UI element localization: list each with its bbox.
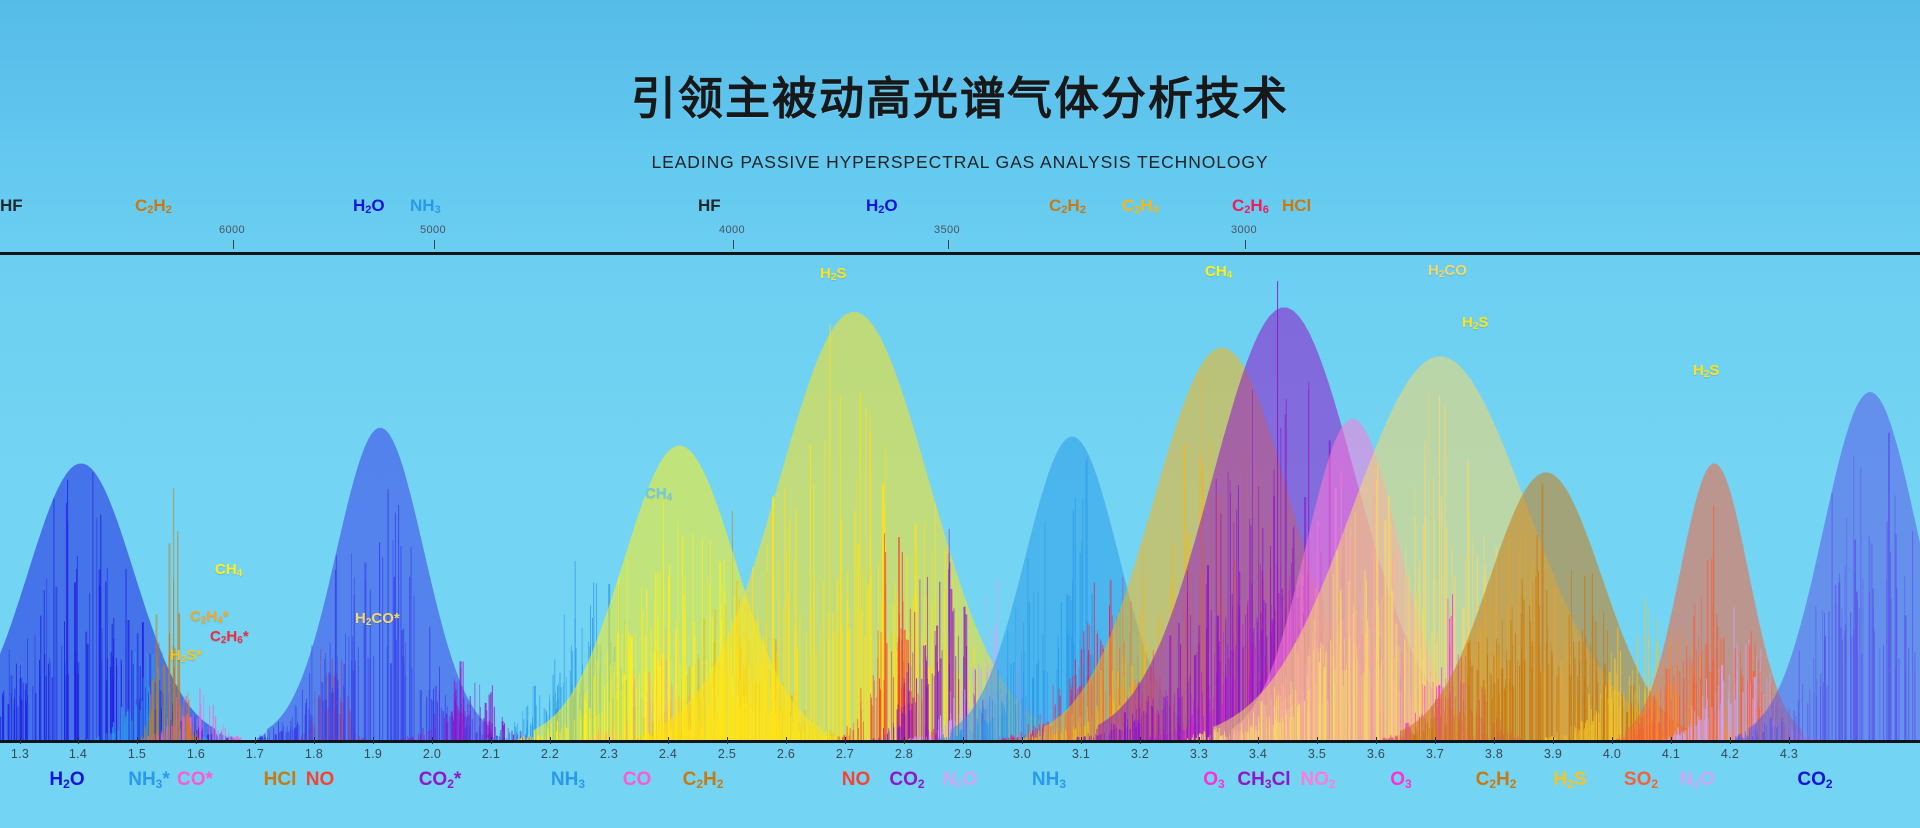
bottom-axis-tick-mark [255,737,256,744]
bottom-axis: 1.31.41.51.61.71.81.92.02.12.22.32.42.52… [0,743,1920,828]
top-species-label: NH3 [410,196,441,216]
top-axis-tick-mark [948,240,949,249]
bottom-species-label: CO2 [1797,769,1832,791]
inplot-species-label: H2S [820,265,846,283]
bottom-species-label: O3 [1390,769,1411,791]
inplot-species-label: H2CO [1428,262,1467,280]
bottom-species-label: H2S [1553,769,1586,791]
inplot-species-label: H2CO* [355,610,400,628]
top-species-label: H2O [866,196,898,216]
bottom-axis-tick-mark [1081,737,1082,744]
bottom-species-label: NH3 [1032,769,1066,791]
inplot-species-label: CH4 [1205,263,1232,281]
spectra-svg [0,255,1920,740]
bottom-axis-tick-mark [78,737,79,744]
bottom-axis-tick-label: 2.3 [600,747,618,761]
bottom-axis-tick-mark [314,737,315,744]
bottom-axis-tick-mark [668,737,669,744]
bottom-species-label: CO [623,769,652,791]
bottom-axis-tick-mark [963,737,964,744]
bottom-axis-tick-mark [727,737,728,744]
bottom-species-label: O3 [1203,769,1224,791]
bottom-axis-tick-label: 3.8 [1485,747,1503,761]
bottom-axis-tick-mark [373,737,374,744]
top-species-label: C2H6 [1232,196,1269,216]
inplot-species-label: H2S* [170,647,202,665]
bottom-species-label: NH3* [128,769,170,791]
bottom-axis-tick-label: 2.7 [836,747,854,761]
hyperspectral-banner: 引领主被动高光谱气体分析技术 LEADING PASSIVE HYPERSPEC… [0,0,1920,828]
bottom-axis-tick-mark [845,737,846,744]
top-axis-tick-label: 3500 [934,224,960,236]
bottom-axis-tick-mark [786,737,787,744]
bottom-axis-tick-mark [904,737,905,744]
bottom-axis-tick-label: 4.1 [1662,747,1680,761]
page-subtitle: LEADING PASSIVE HYPERSPECTRAL GAS ANALYS… [0,152,1920,173]
bottom-axis-tick-label: 3.3 [1190,747,1208,761]
top-species-label: C2H4 [1122,196,1159,216]
bottom-species-label: C2H2 [683,769,724,791]
top-axis-tick-label: 3000 [1231,224,1257,236]
bottom-species-label: SO2 [1624,769,1658,791]
bottom-axis-tick-mark [1435,737,1436,744]
bottom-axis-tick-mark [1140,737,1141,744]
bottom-axis-tick-label: 1.4 [69,747,87,761]
bottom-axis-tick-mark [1317,737,1318,744]
top-axis-tick-mark [733,240,734,249]
page-title: 引领主被动高光谱气体分析技术 [0,62,1920,127]
bottom-axis-tick-mark [550,737,551,744]
bottom-axis-tick-label: 3.7 [1426,747,1444,761]
top-axis-tick-mark [1245,240,1246,249]
top-species-label: C2H2 [1049,196,1086,216]
bottom-axis-tick-label: 1.6 [187,747,205,761]
bottom-axis-tick-mark [609,737,610,744]
bottom-axis-tick-label: 3.4 [1249,747,1267,761]
bottom-species-label: HCl [264,769,297,791]
inplot-species-label: CH4 [645,485,672,503]
bottom-axis-tick-label: 2.1 [482,747,500,761]
inplot-species-label: H2S [1462,314,1488,332]
top-axis-tick-label: 4000 [719,224,745,236]
inplot-species-label: C2H4* [190,608,229,626]
bottom-axis-tick-mark [20,737,21,744]
bottom-axis-tick-mark [432,737,433,744]
bottom-axis-tick-label: 2.0 [423,747,441,761]
bottom-axis-tick-label: 3.1 [1072,747,1090,761]
bottom-species-label: CH3Cl [1237,769,1290,791]
bottom-axis-tick-label: 1.5 [128,747,146,761]
bottom-axis-tick-mark [1022,737,1023,744]
bottom-axis-tick-mark [1258,737,1259,744]
bottom-species-label: CO2* [419,769,462,791]
bottom-axis-tick-label: 4.3 [1780,747,1798,761]
bottom-axis-tick-label: 3.9 [1544,747,1562,761]
bottom-species-label: N2O [1679,769,1714,791]
bottom-axis-tick-mark [1612,737,1613,744]
bottom-axis-tick-mark [1494,737,1495,744]
inplot-species-label: C2H6* [210,628,249,646]
spectra-plot: H2SCH4H2COH2SH2SCH4C2H4*C2H6*H2S*H2CO*CH… [0,255,1920,740]
bottom-species-label: N2O [942,769,977,791]
bottom-axis-tick-mark [1376,737,1377,744]
top-axis-tick-mark [434,240,435,249]
bottom-axis-tick-label: 2.5 [718,747,736,761]
bottom-axis-tick-label: 4.0 [1603,747,1621,761]
bottom-species-label: H2O [49,769,84,791]
bottom-axis-tick-label: 3.6 [1367,747,1385,761]
bottom-axis-tick-label: 3.5 [1308,747,1326,761]
bottom-axis-tick-label: 2.4 [659,747,677,761]
bottom-species-label: NO [306,769,335,791]
top-species-label: HF [0,196,23,216]
bottom-axis-tick-mark [1730,737,1731,744]
bottom-axis-tick-label: 1.7 [246,747,264,761]
top-axis: HFC2H2H2ONH3HFH2OC2H2C2H4C2H6HCl60005000… [0,196,1920,255]
bottom-axis-tick-mark [137,737,138,744]
bottom-axis-tick-label: 2.9 [954,747,972,761]
bottom-axis-tick-mark [1199,737,1200,744]
bottom-axis-tick-mark [1671,737,1672,744]
bottom-axis-tick-mark [1553,737,1554,744]
top-species-label: H2O [353,196,385,216]
bottom-axis-tick-mark [196,737,197,744]
bottom-axis-tick-label: 4.2 [1721,747,1739,761]
bottom-axis-tick-label: 1.3 [11,747,29,761]
top-axis-tick-label: 5000 [420,224,446,236]
bottom-axis-tick-label: 2.2 [541,747,559,761]
top-species-label: HF [698,196,721,216]
bottom-axis-tick-label: 2.8 [895,747,913,761]
inplot-species-label: CH4 [215,561,242,579]
inplot-species-label: H2S [1693,362,1719,380]
bottom-axis-tick-label: 1.9 [364,747,382,761]
top-species-label: C2H2 [135,196,172,216]
bottom-species-label: C2H2 [1476,769,1517,791]
bottom-species-label: NH3 [551,769,585,791]
bottom-axis-tick-label: 3.2 [1131,747,1149,761]
bottom-axis-tick-label: 2.6 [777,747,795,761]
bottom-species-label: CO2 [889,769,924,791]
bottom-axis-tick-mark [491,737,492,744]
top-species-label: HCl [1282,196,1311,216]
bottom-species-label: NO [842,769,871,791]
top-axis-tick-label: 6000 [219,224,245,236]
bottom-axis-tick-label: 1.8 [305,747,323,761]
bottom-axis-tick-label: 3.0 [1013,747,1031,761]
bottom-species-label: NO2 [1300,769,1335,791]
bottom-species-label: CO* [177,769,213,791]
top-axis-tick-mark [233,240,234,249]
bottom-axis-tick-mark [1789,737,1790,744]
header: 引领主被动高光谱气体分析技术 LEADING PASSIVE HYPERSPEC… [0,0,1920,196]
